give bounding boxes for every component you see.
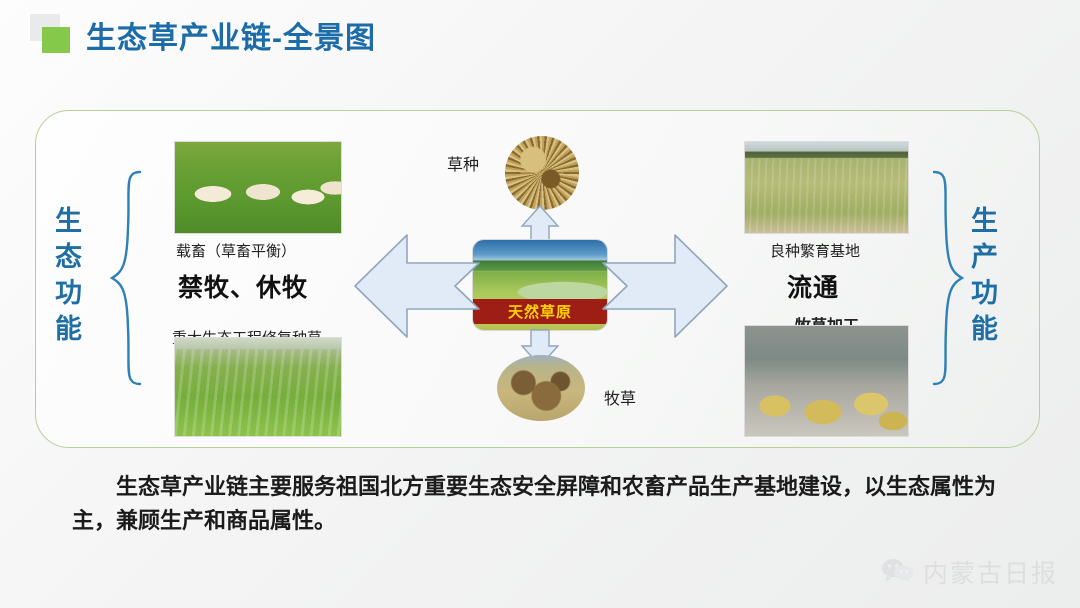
- forage-label: 牧草: [604, 385, 636, 409]
- restored-grassland-photo: [174, 337, 342, 437]
- center-banner-label: 天然草原: [473, 299, 607, 324]
- right-curly-brace-icon: [930, 168, 964, 388]
- page-title: 生态草产业链-全景图: [86, 13, 376, 57]
- arrow-pointing-up-icon: [518, 204, 562, 244]
- seed-label: 草种: [447, 151, 479, 175]
- arrow-pointing-right-icon: [600, 232, 730, 340]
- left-curly-brace-icon: [110, 168, 144, 388]
- wechat-icon: [881, 558, 915, 586]
- seed-breeding-base-photo: [744, 141, 909, 234]
- bullet-green-square: [42, 27, 70, 53]
- grass-seed-pile-photo: [505, 136, 579, 210]
- watermark: 内蒙古日报: [881, 554, 1058, 590]
- green-square-bullet-icon: [30, 14, 70, 50]
- left-heading: 禁牧、休牧: [178, 268, 308, 304]
- hay-bales-photo: [497, 355, 585, 421]
- arrow-pointing-left-icon: [352, 232, 482, 340]
- forage-processing-photo: [744, 325, 909, 437]
- left-side-label: 生态功能: [52, 206, 79, 350]
- grazing-sheep-photo: [174, 141, 342, 234]
- left-top-caption: 载畜（草畜平衡）: [176, 240, 296, 261]
- right-top-caption: 良种繁育基地: [770, 240, 860, 261]
- right-side-label: 生产功能: [968, 206, 995, 350]
- right-heading: 流通: [787, 268, 839, 304]
- natural-grassland-photo: 天然草原: [472, 239, 608, 331]
- title-bar: 生态草产业链-全景图: [0, 0, 1080, 78]
- summary-caption: 生态草产业链主要服务祖国北方重要生态安全屏障和农畜产品生产基地建设，以生态属性为…: [72, 470, 1032, 538]
- watermark-label: 内蒙古日报: [923, 554, 1058, 590]
